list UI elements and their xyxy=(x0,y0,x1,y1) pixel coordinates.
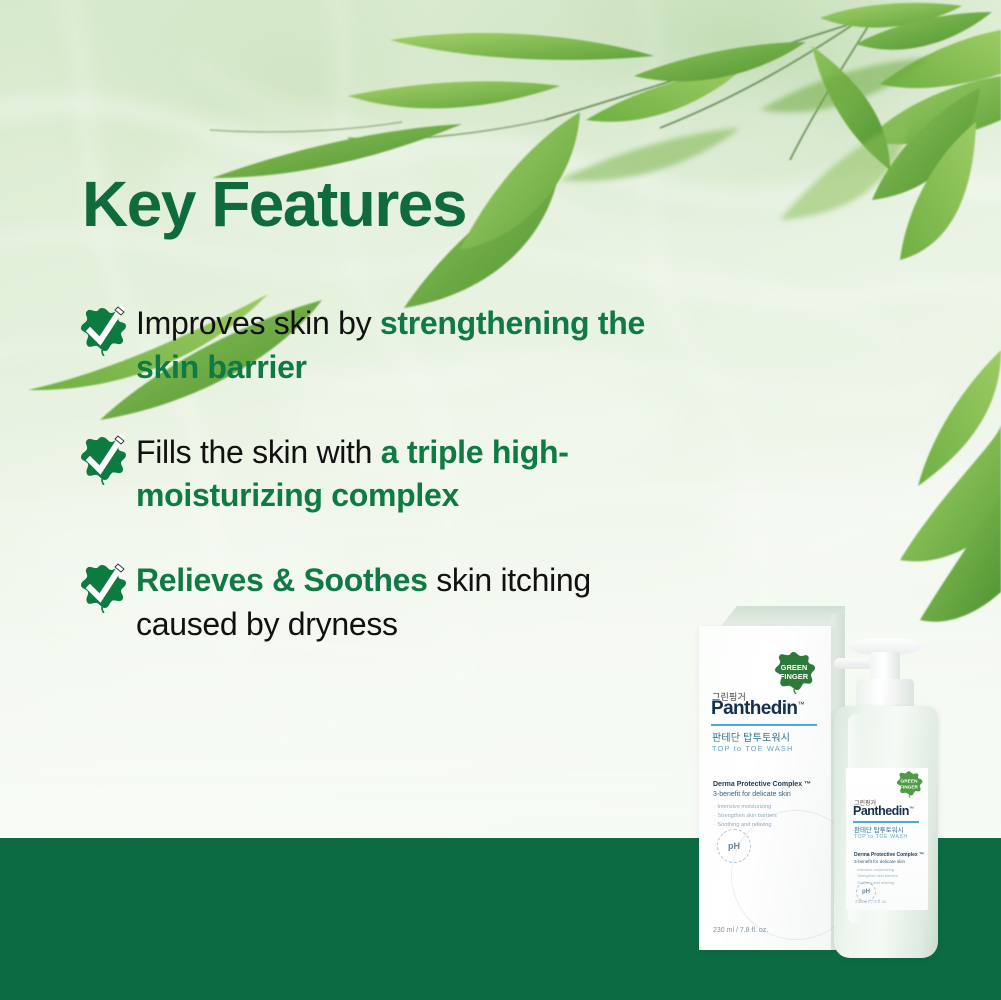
green-finger-logo-icon: GREEN FINGER xyxy=(894,770,924,798)
box-front-face: GREEN FINGER 그린핑거 Panthedin™ 판테단 탑투토워시 T… xyxy=(699,626,831,950)
box-benefit-item: · Intensive moisturizing xyxy=(714,803,777,812)
product-box: GREEN FINGER 그린핑거 Panthedin™ 판테단 탑투토워시 T… xyxy=(699,606,845,950)
list-item: Relieves & Soothes skin itching caused b… xyxy=(78,557,698,647)
leaf-check-icon xyxy=(78,561,128,613)
box-brand-tm: ™ xyxy=(797,702,803,709)
green-finger-logo-icon: GREEN FINGER xyxy=(771,650,817,694)
feature-list: Improves skin by strengthening the skin … xyxy=(78,300,698,686)
bottle-benefit-item: · Strengthen skin barriers xyxy=(855,873,898,879)
bottle-product-kr: 판테단 탑투토워시 xyxy=(854,824,904,834)
leaf-check-icon xyxy=(78,304,128,356)
feature-text: Relieves & Soothes skin itching caused b… xyxy=(136,557,698,647)
bottle-brand-tm: ™ xyxy=(909,806,914,812)
feature-segment-plain: Fills the skin with xyxy=(136,434,381,470)
bottle-brand-text: Panthedin xyxy=(853,804,909,818)
feature-text: Improves skin by strengthening the skin … xyxy=(136,300,698,390)
logo-line-1: GREEN xyxy=(901,779,919,785)
box-benefit-item: · Strengthen skin barriers xyxy=(714,812,777,821)
product-bottle: GREEN FINGER 그린핑거 Panthedin™ 판테단 탑투토워시 T… xyxy=(826,638,944,958)
box-product-en: TOP to TOE WASH xyxy=(712,744,794,753)
box-brand-name: Panthedin™ xyxy=(711,698,804,720)
logo-line-1: GREEN xyxy=(781,663,808,672)
box-volume-text: 230 ml / 7.8 fl. oz. xyxy=(713,927,768,934)
list-item: Improves skin by strengthening the skin … xyxy=(78,300,698,390)
list-item: Fills the skin with a triple high-moistu… xyxy=(78,429,698,519)
box-top-face xyxy=(699,606,845,628)
logo-line-2: FINGER xyxy=(780,672,809,681)
feature-segment-plain: Improves skin by xyxy=(136,305,380,341)
box-benefit-item: · Soothing and relaxing xyxy=(714,821,777,830)
bottle-product-en: TOP to TOE WASH xyxy=(854,834,908,840)
feature-segment-highlight: Relieves & Soothes xyxy=(136,562,428,598)
pump-stem xyxy=(870,652,900,682)
bottle-label: GREEN FINGER 그린핑거 Panthedin™ 판테단 탑투토워시 T… xyxy=(846,768,928,910)
box-benefit-list: · Intensive moisturizing · Strengthen sk… xyxy=(714,803,777,831)
bottle-brand-name: Panthedin™ xyxy=(853,804,913,818)
bottle-divider-rule xyxy=(853,821,919,823)
pump-collar xyxy=(856,679,914,709)
bottle-complex-sub: 3-benefit for delicate skin xyxy=(854,859,905,864)
logo-line-2: FINGER xyxy=(900,784,919,790)
box-complex-title: Derma Protective Complex ™ xyxy=(713,781,811,788)
page-title: Key Features xyxy=(82,172,466,236)
box-ph-badge: pH xyxy=(717,829,751,863)
box-complex-sub: 3-benefit for delicate skin xyxy=(713,791,791,798)
pump-nozzle xyxy=(834,658,874,669)
leaf-check-icon xyxy=(78,433,128,485)
key-features-banner: Key Features Improves skin by strengthen… xyxy=(0,0,1001,1000)
box-product-kr: 판테단 탑투토워시 xyxy=(712,729,790,744)
box-brand-text: Panthedin xyxy=(711,698,797,719)
bottle-volume-text: 230ml / 7.8 fl oz. xyxy=(855,899,887,904)
box-divider-rule xyxy=(711,724,817,726)
feature-text: Fills the skin with a triple high-moistu… xyxy=(136,429,698,519)
bottle-complex-title: Derma Protective Complex ™ xyxy=(854,852,924,858)
